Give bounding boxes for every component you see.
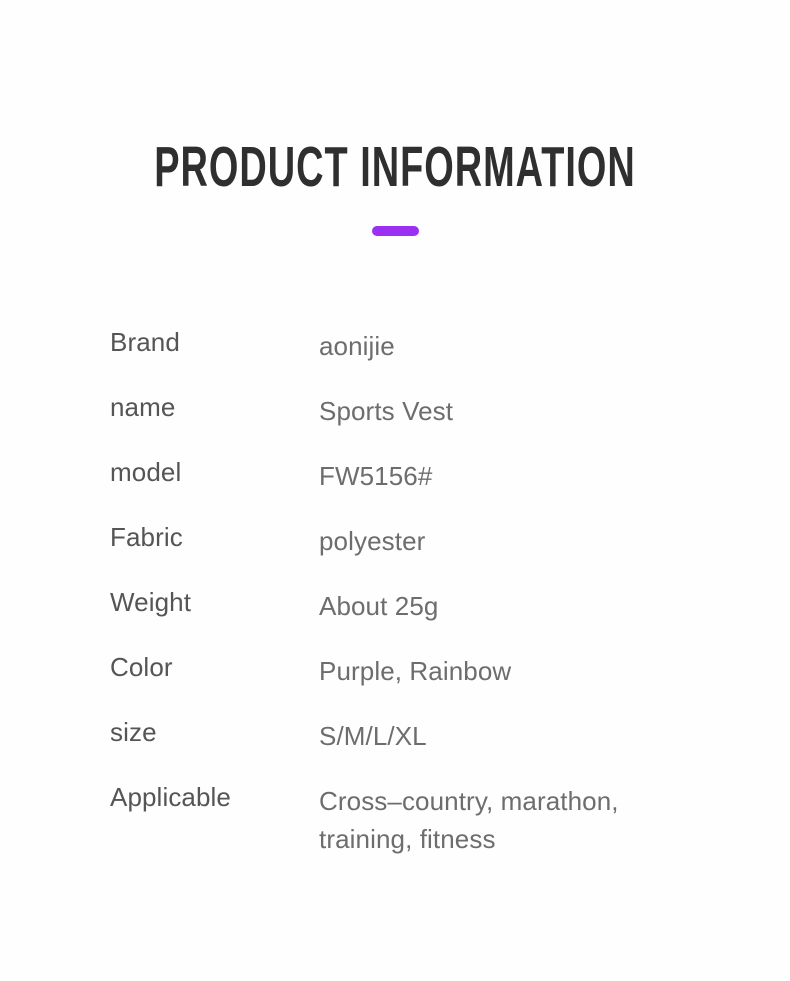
table-row: size S/M/L/XL <box>110 721 710 786</box>
spec-label-size: size <box>110 717 319 782</box>
spec-label-model: model <box>110 457 319 522</box>
spec-value-weight: About 25g <box>319 587 710 652</box>
table-row: Weight About 25g <box>110 591 710 656</box>
spec-label-applicable: Applicable <box>110 782 319 858</box>
table-row: Color Purple, Rainbow <box>110 656 710 721</box>
table-row: name Sports Vest <box>110 396 710 461</box>
product-information-page: PRODUCT INFORMATION Brand aonijie name S… <box>0 0 790 981</box>
table-row: Fabric polyester <box>110 526 710 591</box>
page-title: PRODUCT INFORMATION <box>154 138 636 196</box>
spec-label-fabric: Fabric <box>110 522 319 587</box>
spec-value-size: S/M/L/XL <box>319 717 710 782</box>
product-spec-table: Brand aonijie name Sports Vest model FW5… <box>110 331 710 862</box>
spec-label-color: Color <box>110 652 319 717</box>
spec-value-fabric: polyester <box>319 522 710 587</box>
spec-value-color: Purple, Rainbow <box>319 652 710 717</box>
spec-label-brand: Brand <box>110 327 319 392</box>
spec-value-model: FW5156# <box>319 457 710 522</box>
spec-value-applicable: Cross–country, marathon, training, fitne… <box>319 782 710 858</box>
table-row: model FW5156# <box>110 461 710 526</box>
spec-value-name: Sports Vest <box>319 392 710 457</box>
header-block: PRODUCT INFORMATION <box>0 138 790 236</box>
spec-value-brand: aonijie <box>319 327 710 392</box>
spec-table-body: Brand aonijie name Sports Vest model FW5… <box>110 331 710 862</box>
spec-label-weight: Weight <box>110 587 319 652</box>
title-underline-divider <box>372 226 419 236</box>
spec-label-name: name <box>110 392 319 457</box>
table-row: Brand aonijie <box>110 331 710 396</box>
table-row: Applicable Cross–country, marathon, trai… <box>110 786 710 862</box>
